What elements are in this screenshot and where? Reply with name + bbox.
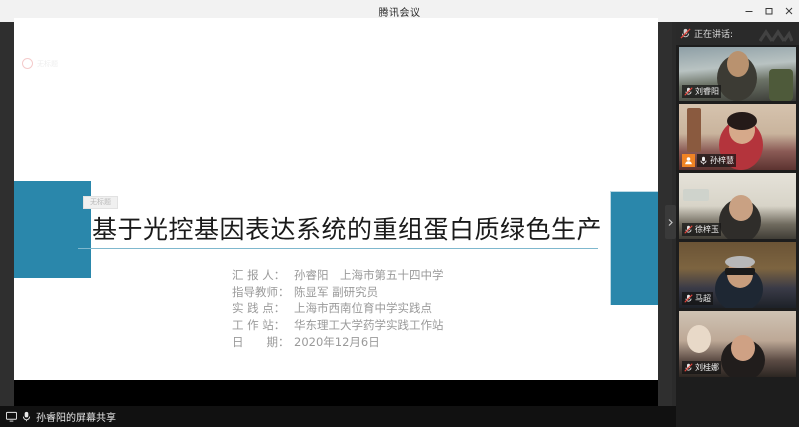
microphone-icon: 孙梓慧	[697, 154, 736, 167]
meta-value: 华东理工大学药学实践工作站	[294, 318, 444, 332]
stage-left-rail	[0, 22, 14, 406]
meta-label: 指导教师：	[232, 284, 294, 301]
meta-label: 工 作 站：	[232, 317, 294, 334]
slide-title-rule	[78, 248, 598, 249]
meta-value: 孙睿阳 上海市第五十四中学	[294, 268, 444, 282]
panel-header-label: 正在讲话:	[694, 27, 733, 40]
participant-name: 徐梓玉	[695, 224, 719, 235]
panel-header: 正在讲话:	[676, 22, 799, 45]
slide-title-tooltip: 无标题	[83, 196, 118, 209]
slide-accent-block-left	[14, 181, 91, 278]
slide-meta-row: 日 期：2020年12月6日	[232, 334, 444, 351]
participant-panel: 正在讲话: 刘睿阳	[676, 22, 799, 427]
tencent-meeting-window: 腾讯会议 无标题 无标题 基于光控基因表达系统的重组蛋白质绿色生产	[0, 0, 799, 427]
microphone-muted-icon: 刘桂娜	[682, 361, 721, 374]
close-button[interactable]	[779, 0, 799, 22]
slide-placeholder-marker: 无标题	[22, 58, 58, 69]
meta-label: 实 践 点：	[232, 300, 294, 317]
screen-share-label: 孙睿阳的屏幕共享	[36, 409, 116, 424]
slide-accent-block-right	[610, 191, 658, 305]
slide-meta-row: 指导教师：陈显军 副研究员	[232, 284, 444, 301]
meta-label: 日 期：	[232, 334, 294, 351]
presentation-slide: 无标题 无标题 基于光控基因表达系统的重组蛋白质绿色生产 汇 报 人：孙睿阳 上…	[14, 18, 658, 380]
participant-tile-list: 刘睿阳 孙梓慧	[676, 45, 799, 427]
minimize-button[interactable]	[739, 0, 759, 22]
slide-title: 基于光控基因表达系统的重组蛋白质绿色生产	[92, 210, 602, 246]
window-title: 腾讯会议	[379, 4, 421, 19]
microphone-muted-icon	[680, 24, 691, 43]
participant-tile[interactable]: 孙梓慧	[679, 104, 796, 170]
tile-badges: 刘睿阳	[682, 85, 721, 98]
participant-tile[interactable]: 徐梓玉	[679, 173, 796, 239]
microphone-muted-icon: 刘睿阳	[682, 85, 721, 98]
record-dot-icon	[22, 58, 33, 69]
slide-meta-row: 实 践 点：上海市西南位育中学实践点	[232, 300, 444, 317]
meta-value: 2020年12月6日	[294, 335, 380, 349]
slide-meta-row: 汇 报 人：孙睿阳 上海市第五十四中学	[232, 267, 444, 284]
participant-tile[interactable]: 马超	[679, 242, 796, 308]
meta-value: 上海市西南位育中学实践点	[294, 301, 432, 315]
microphone-muted-icon: 马超	[682, 292, 713, 305]
participant-name: 孙梓慧	[710, 155, 734, 166]
tile-badges: 马超	[682, 292, 713, 305]
tile-badges: 徐梓玉	[682, 223, 721, 236]
microphone-icon	[21, 411, 32, 422]
slide-placeholder-text: 无标题	[37, 59, 58, 69]
meta-label: 汇 报 人：	[232, 267, 294, 284]
panel-collapse-handle[interactable]	[665, 205, 676, 239]
meta-value: 陈显军 副研究员	[294, 285, 378, 299]
chevron-right-icon	[667, 218, 674, 227]
host-badge-icon	[682, 154, 695, 167]
tile-badges: 刘桂娜	[682, 361, 721, 374]
participant-name: 刘桂娜	[695, 362, 719, 373]
maximize-button[interactable]	[759, 0, 779, 22]
microphone-muted-icon: 徐梓玉	[682, 223, 721, 236]
participant-name: 马超	[695, 293, 711, 304]
screen-share-statusbar: 孙睿阳的屏幕共享	[0, 406, 678, 427]
window-controls	[739, 0, 799, 22]
app-logo-watermark	[759, 27, 793, 46]
participant-tile[interactable]: 刘睿阳	[679, 47, 796, 101]
participant-tile[interactable]: 刘桂娜	[679, 311, 796, 377]
slide-meta-row: 工 作 站：华东理工大学药学实践工作站	[232, 317, 444, 334]
participant-name: 刘睿阳	[695, 86, 719, 97]
slide-meta-list: 汇 报 人：孙睿阳 上海市第五十四中学 指导教师：陈显军 副研究员 实 践 点：…	[232, 267, 444, 350]
tile-badges: 孙梓慧	[682, 154, 736, 167]
screen-share-icon	[6, 411, 17, 422]
